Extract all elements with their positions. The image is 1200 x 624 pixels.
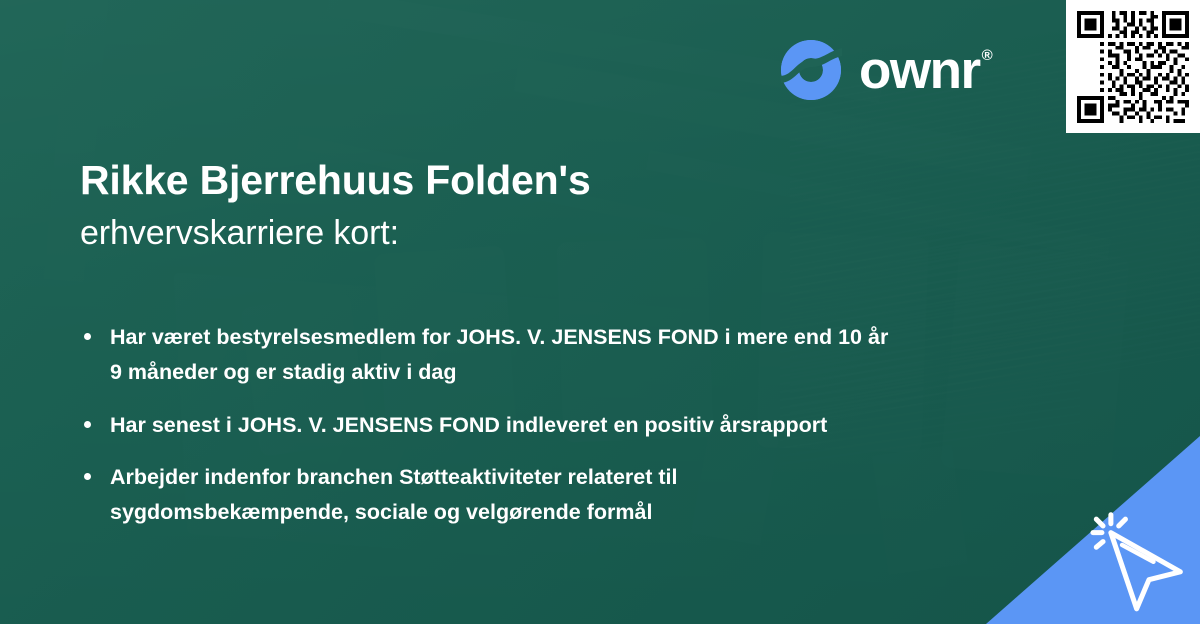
brand-wordmark-text: ownr (859, 44, 980, 97)
card-content: ownr ® Rikke Bjerrehuus Folden's erhverv… (0, 0, 1200, 624)
brand-lockup[interactable]: ownr ® (779, 38, 991, 102)
page-title-line-2: erhvervskarriere kort: (80, 212, 900, 255)
list-item-text: Har senest i JOHS. V. JENSENS FOND indle… (110, 413, 827, 437)
page-title-line-1: Rikke Bjerrehuus Folden's (80, 156, 900, 204)
page-title: Rikke Bjerrehuus Folden's erhvervskarrie… (80, 156, 900, 255)
career-card: ownr ® Rikke Bjerrehuus Folden's erhverv… (0, 0, 1200, 624)
list-item: Arbejder indenfor branchen Støtteaktivit… (80, 460, 890, 530)
list-item-text: Arbejder indenfor branchen Støtteaktivit… (110, 465, 678, 524)
registered-trademark-icon: ® (982, 48, 992, 63)
qr-code-panel[interactable] (1066, 0, 1200, 133)
ownr-circle-slash-logo-icon (779, 38, 843, 102)
list-item-text: Har været bestyrelsesmedlem for JOHS. V.… (110, 325, 888, 384)
click-cursor-icon (1084, 508, 1196, 620)
qr-code-icon (1077, 11, 1189, 123)
bullet-dot-icon (84, 473, 91, 480)
list-item: Har været bestyrelsesmedlem for JOHS. V.… (80, 320, 890, 390)
career-summary-list: Har været bestyrelsesmedlem for JOHS. V.… (80, 320, 890, 548)
brand-wordmark: ownr ® (859, 44, 991, 97)
bullet-dot-icon (84, 333, 91, 340)
bullet-dot-icon (84, 421, 91, 428)
corner-accent (986, 436, 1200, 624)
list-item: Har senest i JOHS. V. JENSENS FOND indle… (80, 408, 890, 443)
